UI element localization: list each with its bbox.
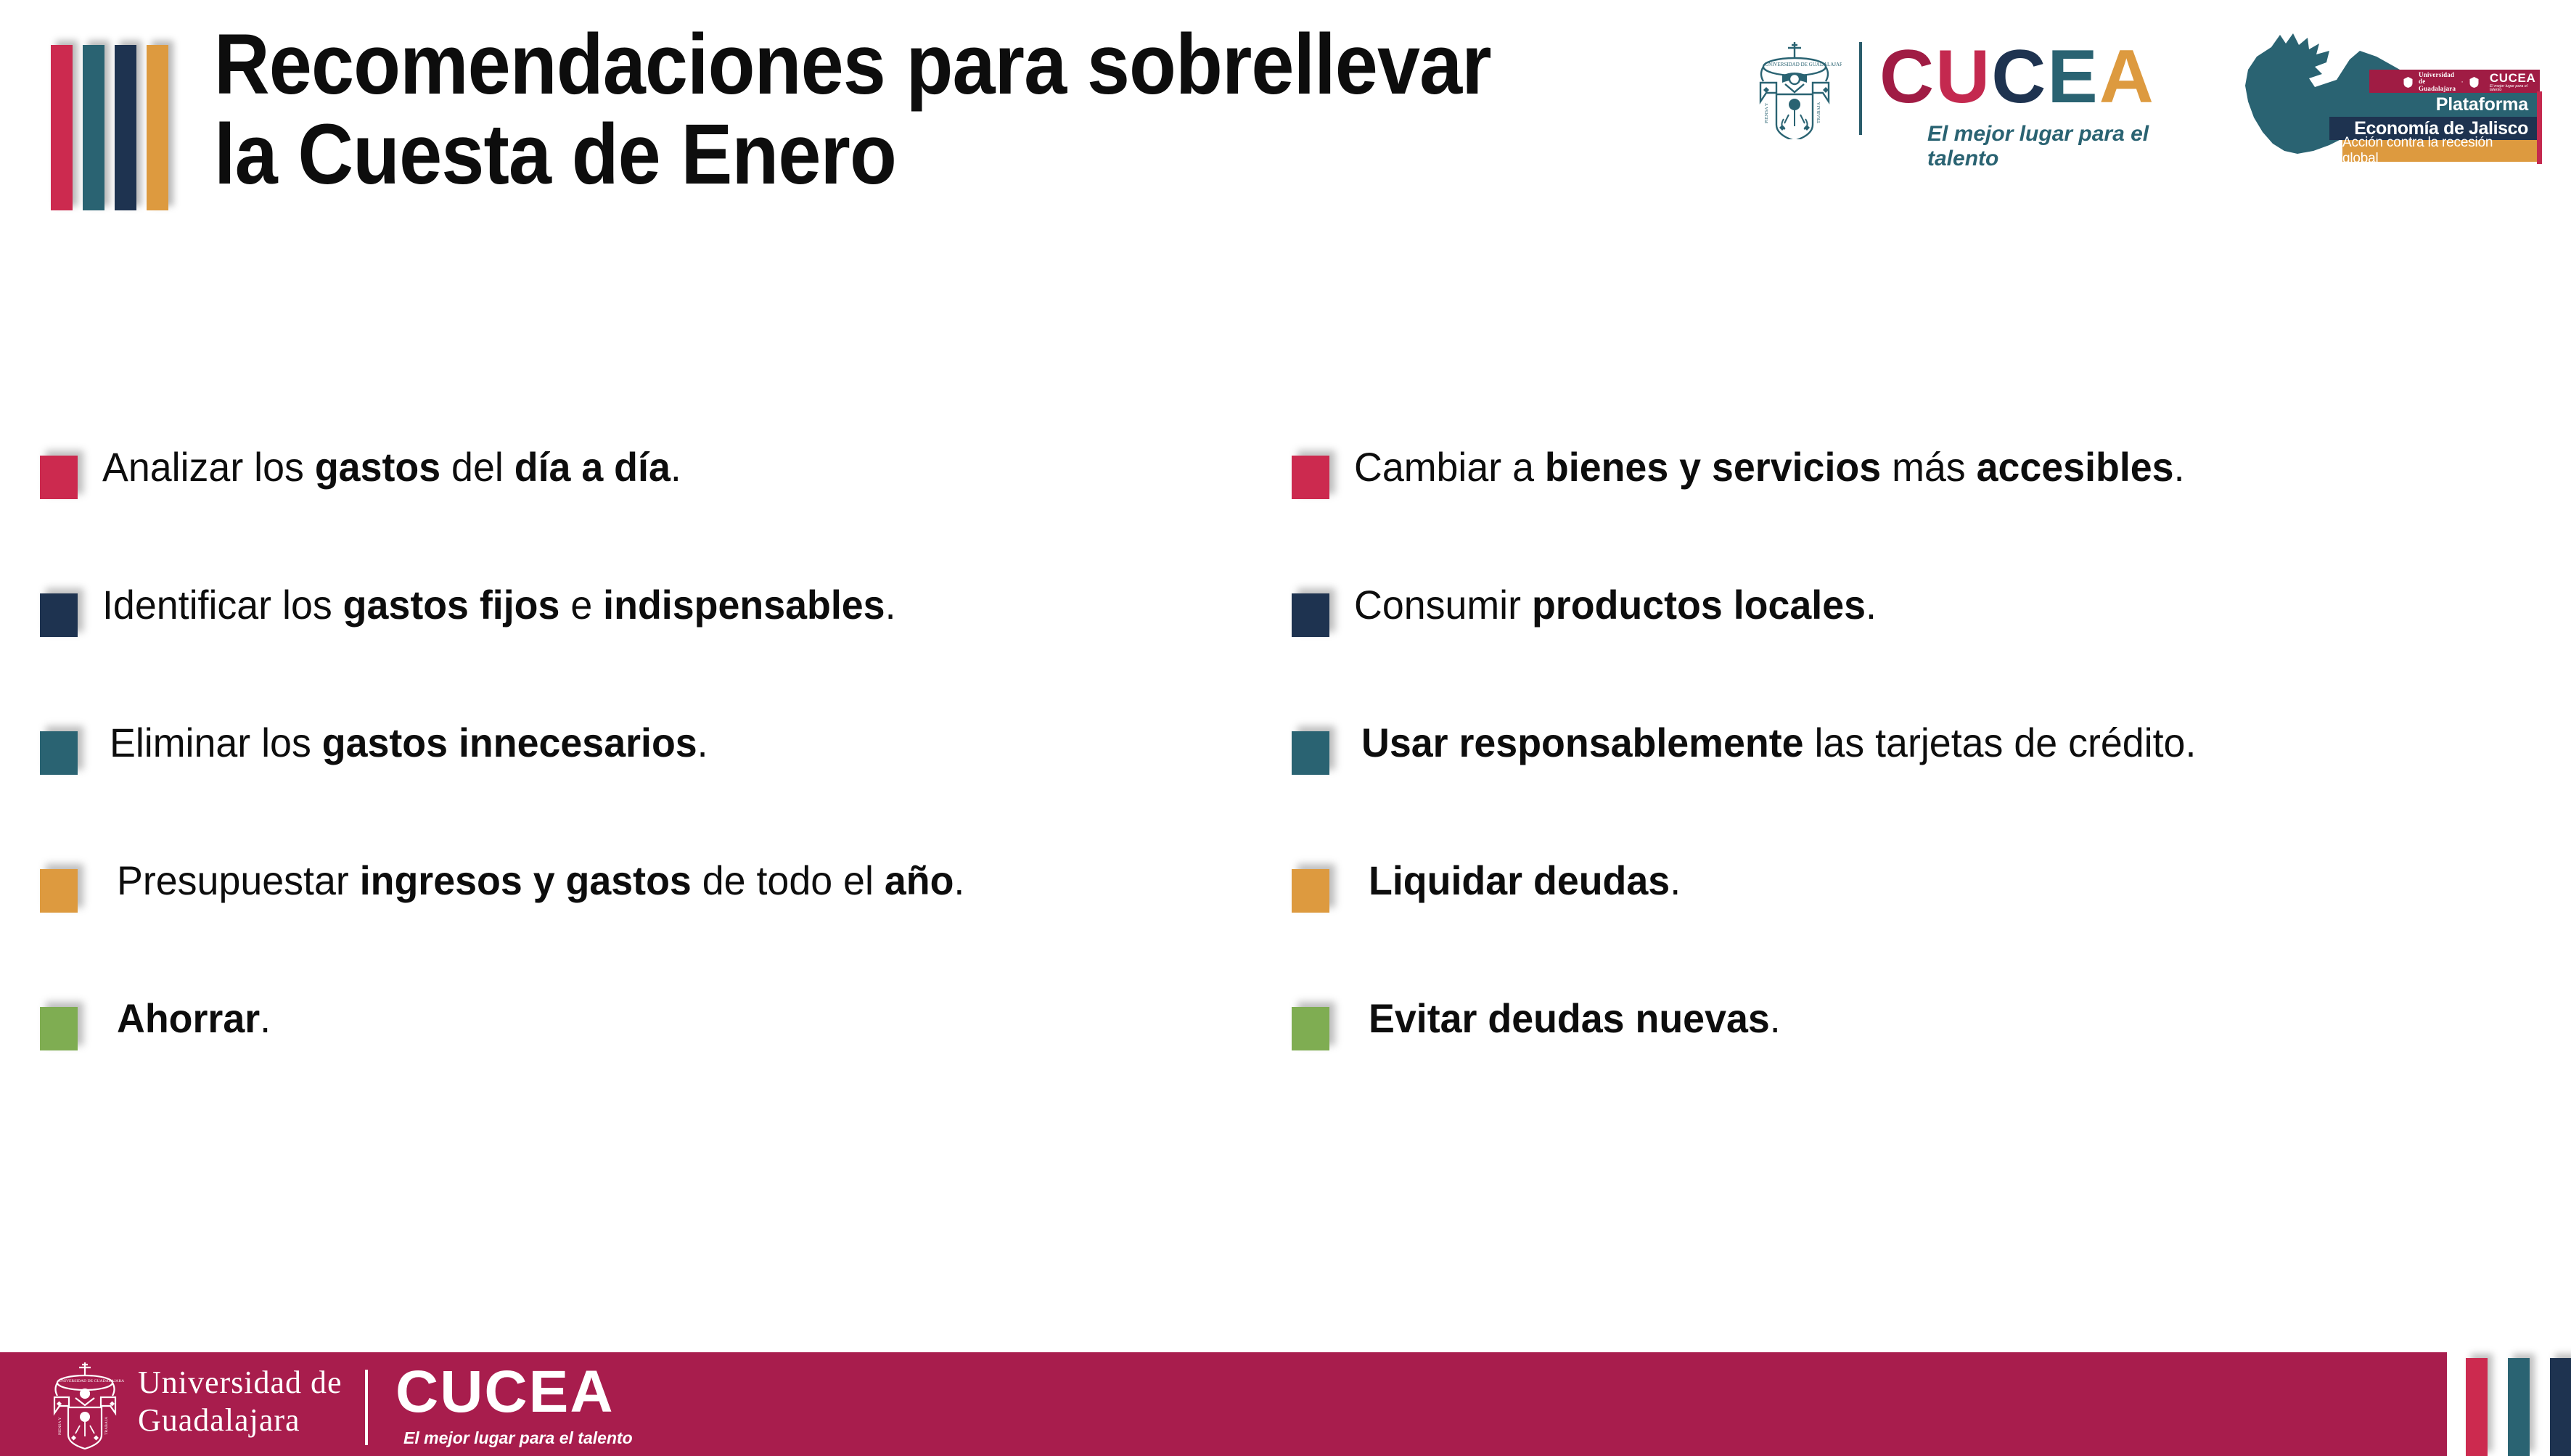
recommendation-text-left-3: Eliminar los gastos innecesarios.	[110, 720, 708, 766]
badge-cucea-tagline: El mejor lugar para el talento	[2490, 85, 2535, 93]
cucea-tagline: El mejor lugar para el talento	[1927, 122, 2191, 171]
cucea-letter-c2: C	[1991, 35, 2047, 119]
recommendations-right-column: Cambiar a bienes y servicios más accesib…	[1292, 450, 2525, 1139]
plain-text: Identificar los	[102, 582, 343, 628]
footer-accent-bars	[2466, 1358, 2571, 1456]
plain-text: .	[2174, 444, 2185, 490]
recommendation-item: Ahorrar.	[40, 1001, 1274, 1139]
bullet-marker-left-3	[40, 731, 78, 775]
footer-cucea-tagline: El mejor lugar para el talento	[403, 1428, 633, 1448]
svg-text:PIENSA Y: PIENSA Y	[1764, 102, 1769, 123]
emphasis-text: gastos innecesarios	[322, 720, 697, 765]
recommendation-item: Liquidar deudas.	[1292, 863, 2525, 1001]
cucea-letter-e: E	[2047, 35, 2099, 119]
plain-text: .	[954, 857, 964, 903]
plain-text: de todo el	[692, 857, 885, 903]
plain-text: Eliminar los	[110, 720, 322, 765]
plain-text: .	[260, 995, 271, 1041]
recommendation-text-left-1: Analizar los gastos del día a día.	[102, 444, 681, 490]
bullet-marker-right-2	[1292, 593, 1329, 637]
cucea-letter-c1: C	[1879, 35, 1935, 119]
recommendation-text-right-2: Consumir productos locales.	[1354, 582, 1877, 628]
badge-line-plataforma: Plataforma	[2436, 94, 2528, 115]
recommendation-text-left-5: Ahorrar.	[117, 995, 271, 1042]
accent-bar-1	[2466, 1358, 2488, 1456]
accent-bar-2	[2508, 1358, 2530, 1456]
emphasis-text: Liquidar deudas	[1369, 857, 1670, 903]
recommendation-text-right-1: Cambiar a bienes y servicios más accesib…	[1354, 444, 2185, 490]
bullet-marker-left-2	[40, 593, 78, 637]
plain-text: Consumir	[1354, 582, 1532, 628]
plain-text: e	[559, 582, 603, 628]
plain-text: .	[1770, 995, 1781, 1041]
recommendation-item: Eliminar los gastos innecesarios.	[40, 725, 1274, 863]
header-accent-bars	[51, 45, 181, 210]
emphasis-text: día a día	[514, 444, 671, 490]
badge-udg-label: Universidad de Guadalajara	[2419, 72, 2456, 92]
recommendation-item: Identificar los gastos fijos e indispens…	[40, 588, 1274, 725]
svg-text:TRABAJA: TRABAJA	[1816, 102, 1821, 123]
emphasis-text: Usar responsablemente	[1361, 720, 1804, 765]
badge-right-stripe	[2537, 91, 2542, 164]
recommendation-text-right-4: Liquidar deudas.	[1369, 857, 1681, 904]
footer-udg-label: Universidad de Guadalajara	[138, 1364, 343, 1439]
recommendation-item: Consumir productos locales.	[1292, 588, 2525, 725]
bullet-marker-left-5	[40, 1007, 78, 1050]
plain-text: .	[671, 444, 681, 490]
footer-cucea-label: CUCEA	[395, 1362, 615, 1422]
accent-bar-4	[147, 45, 168, 210]
plataforma-economia-jalisco-badge: Universidad de Guadalajara · CUCEA El me…	[2228, 22, 2554, 185]
bullet-marker-right-5	[1292, 1007, 1329, 1050]
accent-bar-2	[83, 45, 104, 210]
recommendations-left-column: Analizar los gastos del día a día.Identi…	[40, 450, 1274, 1139]
emphasis-text: gastos fijos	[343, 582, 560, 628]
plain-text: Cambiar a	[1354, 444, 1545, 490]
badge-cucea-label: CUCEA	[2490, 72, 2535, 84]
plain-text: .	[697, 720, 708, 765]
accent-bar-3	[115, 45, 136, 210]
badge-plataforma-row: Plataforma	[2358, 93, 2540, 117]
recommendation-text-left-4: Presupuestar ingresos y gastos de todo e…	[117, 857, 964, 904]
cucea-logo-divider	[1859, 42, 1862, 135]
bullet-marker-left-4	[40, 869, 78, 913]
svg-text:PIENSA Y: PIENSA Y	[58, 1417, 62, 1435]
plain-text: .	[1670, 857, 1681, 903]
badge-udg-row: Universidad de Guadalajara · CUCEA El me…	[2369, 70, 2540, 93]
recommendation-item: Cambiar a bienes y servicios más accesib…	[1292, 450, 2525, 588]
plain-text: del	[440, 444, 514, 490]
cucea-letter-u: U	[1935, 35, 1991, 119]
emphasis-text: año	[885, 857, 954, 903]
page-title: Recomendaciones para sobrellevar la Cues…	[214, 20, 1520, 200]
emphasis-text: productos locales	[1532, 582, 1866, 628]
plain-text: Analizar los	[102, 444, 315, 490]
badge-udg-shield-icon	[2403, 76, 2414, 89]
badge-separator-dot: ·	[2461, 78, 2464, 86]
accent-bar-3	[2550, 1358, 2571, 1456]
udg-shield-icon: UNIVERSIDAD DE GUADALAJARA PIENSA Y TRAB…	[1747, 38, 1842, 139]
recommendation-item: Usar responsablemente las tarjetas de cr…	[1292, 725, 2525, 863]
plain-text: .	[1866, 582, 1877, 628]
emphasis-text: Ahorrar	[117, 995, 260, 1041]
svg-text:TRABAJA: TRABAJA	[104, 1417, 109, 1435]
badge-text-stack: Universidad de Guadalajara · CUCEA El me…	[2329, 70, 2540, 171]
plain-text: más	[1881, 444, 1976, 490]
emphasis-text: indispensables	[603, 582, 885, 628]
recommendation-item: Evitar deudas nuevas.	[1292, 1001, 2525, 1139]
svg-text:UNIVERSIDAD DE GUADALAJARA: UNIVERSIDAD DE GUADALAJARA	[1765, 62, 1842, 67]
footer-divider	[365, 1370, 368, 1445]
recommendation-item: Presupuestar ingresos y gastos de todo e…	[40, 863, 1274, 1001]
bullet-marker-left-1	[40, 456, 78, 499]
cucea-letter-a: A	[2099, 35, 2155, 119]
recommendation-item: Analizar los gastos del día a día.	[40, 450, 1274, 588]
badge-accion-row: Acción contra la recesión global	[2342, 140, 2540, 162]
svg-text:UNIVERSIDAD DE GUADALAJARA: UNIVERSIDAD DE GUADALAJARA	[59, 1379, 124, 1383]
slide-footer: UNIVERSIDAD DE GUADALAJARA PIENSA Y TRAB…	[0, 1352, 2447, 1456]
recommendation-text-right-3: Usar responsablemente las tarjetas de cr…	[1361, 720, 2196, 766]
footer-udg-shield-icon: UNIVERSIDAD DE GUADALAJARA PIENSA Y TRAB…	[42, 1360, 128, 1449]
recommendation-text-left-2: Identificar los gastos fijos e indispens…	[102, 582, 896, 628]
bullet-marker-right-1	[1292, 456, 1329, 499]
plain-text: .	[885, 582, 896, 628]
recommendation-text-right-5: Evitar deudas nuevas.	[1369, 995, 1781, 1042]
bullet-marker-right-4	[1292, 869, 1329, 913]
badge-cucea-shield-icon	[2469, 76, 2480, 89]
badge-line-accion: Acción contra la recesión global	[2342, 135, 2528, 167]
emphasis-text: ingresos y gastos	[360, 857, 692, 903]
emphasis-text: accesibles	[1977, 444, 2174, 490]
emphasis-text: gastos	[315, 444, 440, 490]
plain-text: Presupuestar	[117, 857, 360, 903]
cucea-wordmark: CUCEA	[1879, 39, 2155, 115]
cucea-logo: UNIVERSIDAD DE GUADALAJARA PIENSA Y TRAB…	[1742, 35, 2191, 151]
plain-text: las tarjetas de crédito.	[1804, 720, 2197, 765]
emphasis-text: Evitar deudas nuevas	[1369, 995, 1770, 1041]
slide-header: Recomendaciones para sobrellevar la Cues…	[0, 0, 2571, 239]
bullet-marker-right-3	[1292, 731, 1329, 775]
accent-bar-1	[51, 45, 73, 210]
emphasis-text: bienes y servicios	[1545, 444, 1881, 490]
